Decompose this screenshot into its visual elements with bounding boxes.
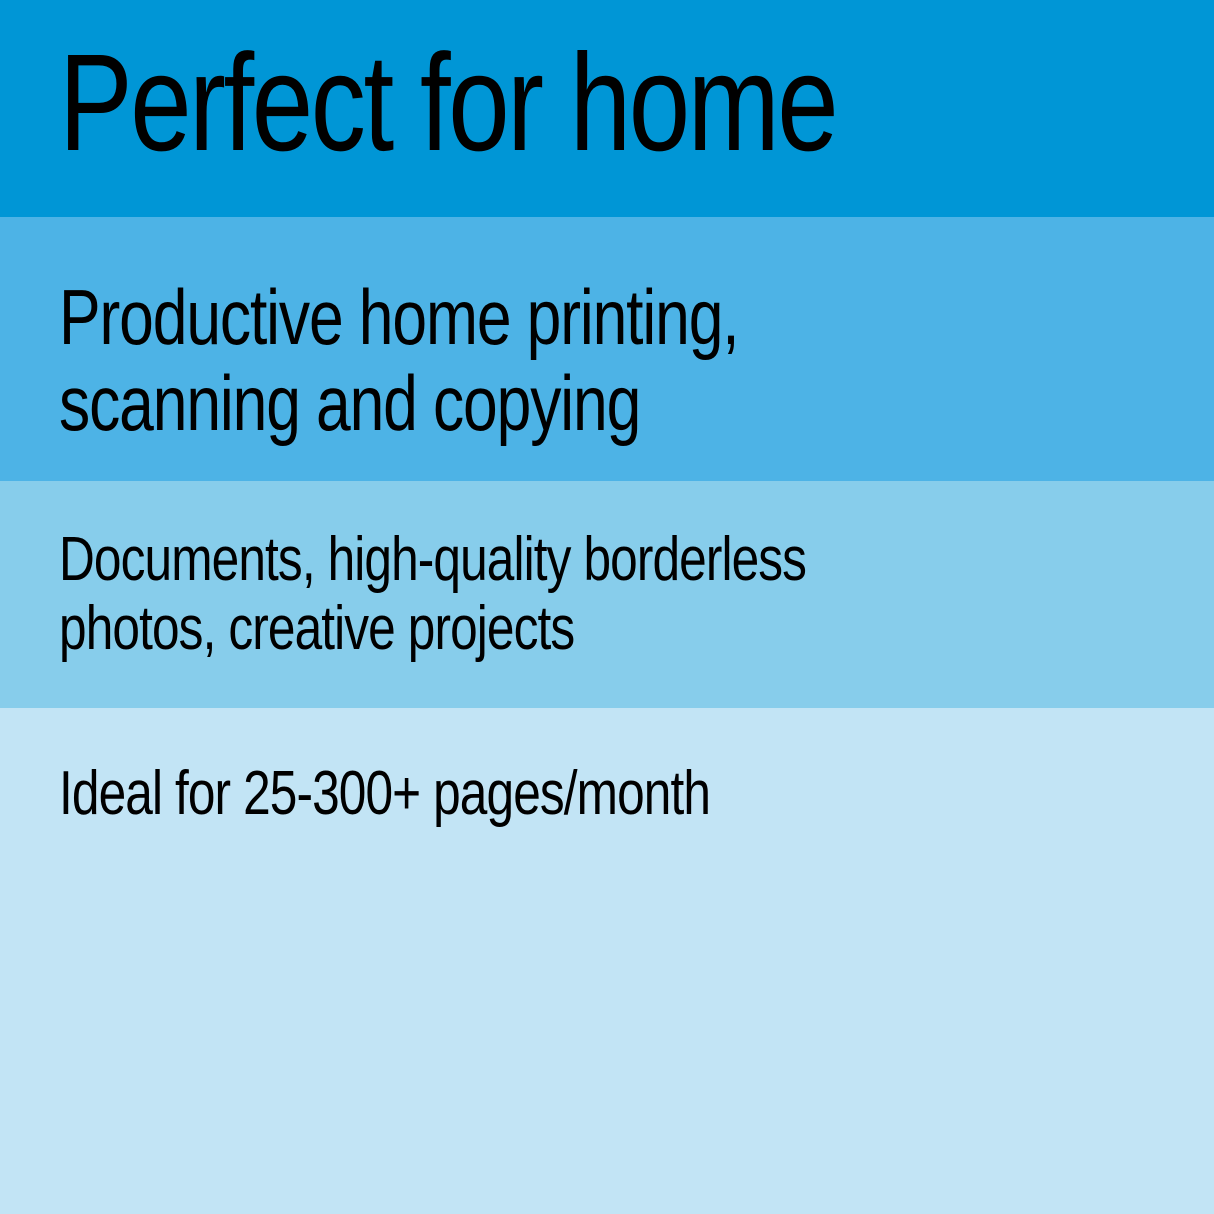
headline-band: Perfect for home (0, 0, 1214, 217)
volume-band: Ideal for 25-300+ pages/month (0, 708, 1214, 1214)
subhead-text: Productive home printing, scanning and c… (59, 275, 739, 447)
subhead-band: Productive home printing, scanning and c… (0, 217, 1214, 481)
description-band: Documents, high-quality borderless photo… (0, 481, 1214, 708)
page-title: Perfect for home (59, 22, 836, 185)
volume-note-text: Ideal for 25-300+ pages/month (59, 759, 710, 828)
description-text: Documents, high-quality borderless photo… (59, 525, 806, 664)
marketing-poster: Perfect for home Productive home printin… (0, 0, 1214, 1214)
